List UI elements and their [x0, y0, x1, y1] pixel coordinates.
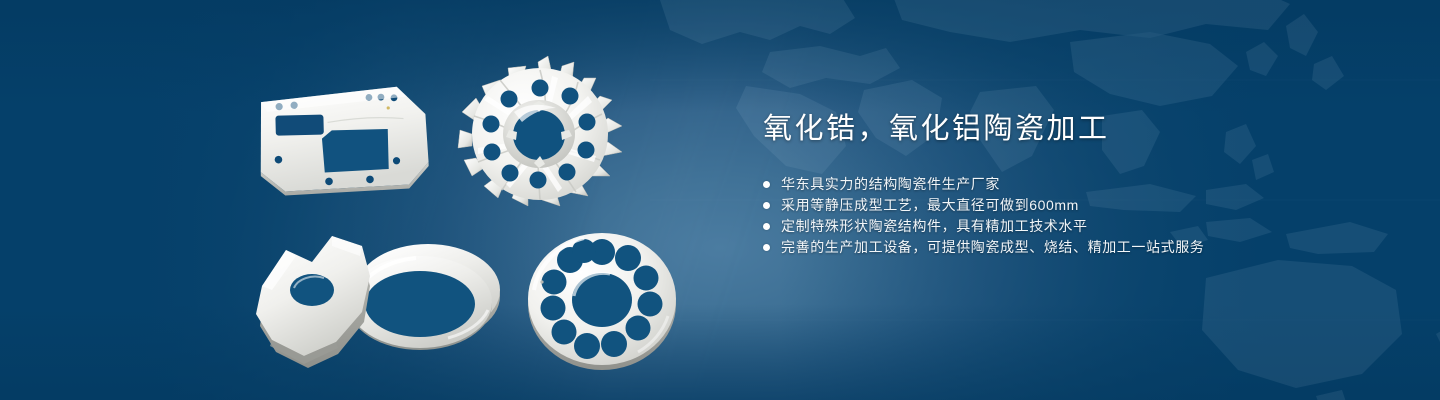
bullet-dot-icon [763, 202, 770, 209]
ceramic-vaned-impeller-image [452, 52, 630, 214]
page-title: 氧化锆，氧化铝陶瓷加工 [763, 110, 1383, 148]
hero-banner: 氧化锆，氧化铝陶瓷加工 华东具实力的结构陶瓷件生产厂家 采用等静压成型工艺，最大… [0, 0, 1440, 400]
list-item: 采用等静压成型工艺，最大直径可做到600mm [763, 195, 1383, 216]
list-item-label: 华东具实力的结构陶瓷件生产厂家 [781, 174, 1000, 195]
list-item: 定制特殊形状陶瓷结构件，具有精加工技术水平 [763, 216, 1383, 237]
list-item-label: 定制特殊形状陶瓷结构件，具有精加工技术水平 [781, 216, 1088, 237]
list-item: 完善的生产加工设备，可提供陶瓷成型、烧结、精加工一站式服务 [763, 237, 1383, 258]
list-item-label: 采用等静压成型工艺，最大直径可做到600mm [781, 195, 1079, 216]
ceramic-machined-plate-image [257, 84, 436, 196]
bullet-dot-icon [763, 223, 770, 230]
ceramic-cross-part-and-ring-image [252, 228, 514, 370]
feature-list: 华东具实力的结构陶瓷件生产厂家 采用等静压成型工艺，最大直径可做到600mm 定… [763, 174, 1383, 258]
banner-copy: 氧化锆，氧化铝陶瓷加工 华东具实力的结构陶瓷件生产厂家 采用等静压成型工艺，最大… [763, 110, 1383, 258]
ceramic-perforated-disc-image [518, 228, 686, 370]
list-item: 华东具实力的结构陶瓷件生产厂家 [763, 174, 1383, 195]
product-image-group [0, 0, 740, 400]
list-item-label: 完善的生产加工设备，可提供陶瓷成型、烧结、精加工一站式服务 [781, 237, 1204, 258]
bullet-dot-icon [763, 244, 770, 251]
bullet-dot-icon [763, 181, 770, 188]
